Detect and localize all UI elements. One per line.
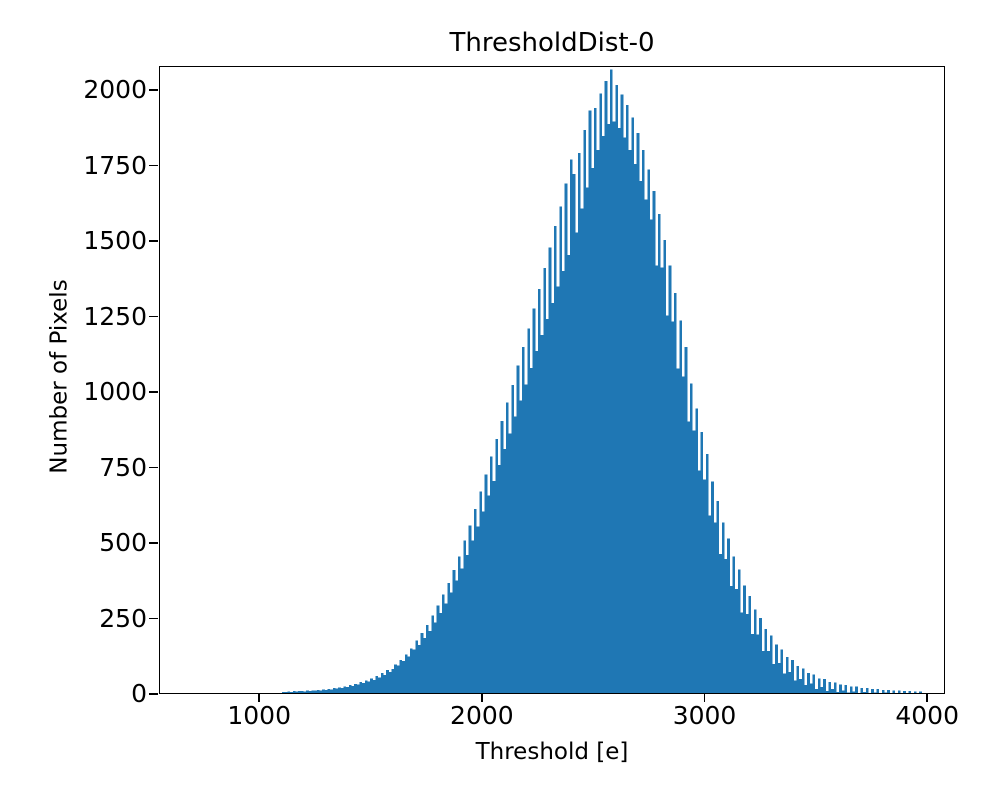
- x-tick-mark: [926, 693, 928, 702]
- histogram-svg: [160, 67, 944, 693]
- plot-area: [159, 66, 945, 694]
- y-tick-label: 0: [131, 681, 147, 706]
- y-tick-mark: [149, 391, 158, 393]
- y-tick-mark: [149, 165, 158, 167]
- y-tick-label: 1000: [83, 379, 147, 404]
- y-tick-label: 1500: [83, 228, 147, 253]
- y-tick-mark: [149, 542, 158, 544]
- x-tick-label: 4000: [867, 703, 987, 728]
- y-axis-label: Number of Pixels: [47, 177, 74, 577]
- y-tick-label: 1750: [83, 153, 147, 178]
- y-tick-label: 250: [99, 606, 147, 631]
- histogram-bar-path: [282, 69, 922, 693]
- y-tick-mark: [149, 618, 158, 620]
- histogram-bars: [160, 67, 944, 693]
- x-tick-label: 2000: [422, 703, 542, 728]
- y-tick-mark: [149, 316, 158, 318]
- x-tick-mark: [481, 693, 483, 702]
- y-tick-label: 500: [99, 530, 147, 555]
- y-tick-label: 1250: [83, 304, 147, 329]
- x-tick-mark: [258, 693, 260, 702]
- y-tick-label: 2000: [83, 77, 147, 102]
- chart-figure: ThresholdDist-0 025050075010001250150017…: [0, 0, 1000, 800]
- chart-title: ThresholdDist-0: [159, 27, 945, 59]
- x-axis-label: Threshold [e]: [159, 739, 945, 766]
- y-tick-label: 750: [99, 455, 147, 480]
- y-tick-mark: [149, 693, 158, 695]
- x-tick-mark: [704, 693, 706, 702]
- x-tick-label: 3000: [645, 703, 765, 728]
- y-tick-mark: [149, 240, 158, 242]
- y-tick-mark: [149, 467, 158, 469]
- x-tick-label: 1000: [199, 703, 319, 728]
- y-tick-mark: [149, 89, 158, 91]
